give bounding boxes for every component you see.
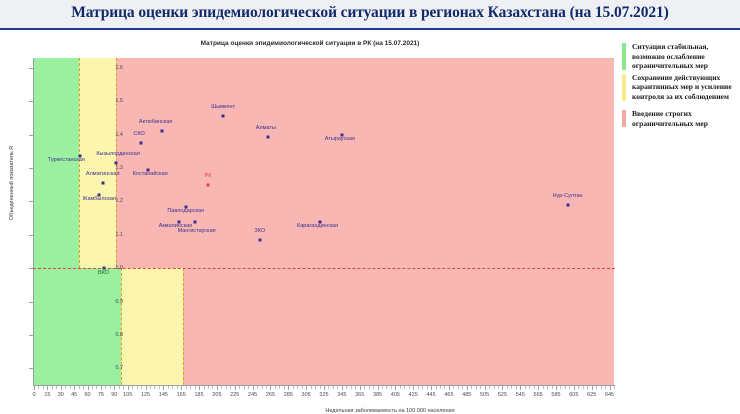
x-axis-tick: [605, 386, 606, 389]
x-axis-tick-label: 245: [248, 392, 257, 398]
data-point[interactable]: [140, 142, 143, 145]
x-axis-tick: [266, 386, 267, 389]
x-axis-tick-label: 205: [212, 392, 221, 398]
data-point[interactable]: [101, 182, 104, 185]
y-axis-tick: [29, 135, 33, 136]
x-axis-tick: [284, 386, 285, 389]
x-axis-tick-label: 625: [587, 392, 596, 398]
x-axis-tick: [315, 386, 316, 389]
x-axis-tick: [150, 386, 151, 389]
x-axis-tick-label: 505: [480, 392, 489, 398]
x-axis-tick: [574, 386, 575, 390]
page-title: Матрица оценки эпидемиологической ситуац…: [0, 4, 740, 22]
legend-label-stable: Ситуация стабильная, возможно ослабление…: [632, 42, 740, 71]
zone-band-red: [183, 268, 614, 385]
x-axis-tick: [235, 386, 236, 390]
x-axis-tick-label: 425: [409, 392, 418, 398]
x-axis-tick: [355, 386, 356, 389]
x-axis-tick: [565, 386, 566, 389]
x-axis-tick: [137, 386, 138, 389]
x-axis-tick: [92, 386, 93, 389]
x-axis-tick: [409, 386, 410, 389]
x-axis-tick: [400, 386, 401, 389]
y-axis-tick: [29, 201, 33, 202]
x-axis-tick: [154, 386, 155, 389]
x-axis-tick: [275, 386, 276, 389]
x-axis-tick: [391, 386, 392, 389]
x-axis-tick: [190, 386, 191, 389]
y-axis-tick: [29, 302, 33, 303]
x-axis-tick: [74, 386, 75, 390]
x-axis-tick-label: 145: [159, 392, 168, 398]
data-point-label: Мангистауская: [178, 228, 216, 234]
x-axis-tick: [96, 386, 97, 389]
x-axis-tick: [61, 386, 62, 390]
x-axis-tick-label: 645: [605, 392, 614, 398]
y-axis-tick: [29, 268, 33, 269]
legend-item: Введение строгих ограничительных мер: [622, 109, 740, 128]
x-axis-tick: [195, 386, 196, 389]
x-axis-tick: [592, 386, 593, 390]
x-axis-tick: [476, 386, 477, 389]
x-axis-tick: [440, 386, 441, 389]
x-axis-tick: [449, 386, 450, 390]
data-point[interactable]: [207, 183, 210, 186]
x-axis-tick-label: 325: [319, 392, 328, 398]
data-point-label: СКО: [133, 131, 144, 137]
x-axis-tick-label: 345: [337, 392, 346, 398]
x-axis-tick: [311, 386, 312, 389]
data-point-label: Кызылординская: [96, 151, 140, 157]
x-axis-tick-label: 45: [71, 392, 77, 398]
x-axis-tick: [342, 386, 343, 390]
x-axis-tick: [556, 386, 557, 390]
x-axis-tick: [226, 386, 227, 389]
x-axis-tick: [364, 386, 365, 389]
data-point-label: Шымкент: [211, 104, 235, 110]
chart-title: Матрица оценки эпидемиологической ситуац…: [0, 40, 620, 47]
zone-band-yellow: [121, 268, 183, 385]
x-axis-tick: [552, 386, 553, 389]
x-axis-tick: [525, 386, 526, 389]
x-axis-tick: [257, 386, 258, 389]
x-axis-tick-label: 90: [111, 392, 117, 398]
x-axis-tick: [596, 386, 597, 389]
y-axis-tick: [29, 68, 33, 69]
x-axis-tick: [578, 386, 579, 389]
x-axis-tick: [502, 386, 503, 390]
x-axis-tick: [560, 386, 561, 389]
x-axis-tick: [485, 386, 486, 390]
x-axis-tick: [511, 386, 512, 389]
x-axis-tick: [114, 386, 115, 390]
x-axis-tick: [306, 386, 307, 390]
x-axis-tick: [253, 386, 254, 390]
x-axis-tick: [382, 386, 383, 389]
x-axis-tick-label: 75: [98, 392, 104, 398]
x-axis-tick: [47, 386, 48, 390]
x-axis-tick: [587, 386, 588, 389]
x-axis-tick: [83, 386, 84, 389]
x-axis-tick: [601, 386, 602, 389]
x-axis-tick: [462, 386, 463, 389]
chart-panel: Матрица оценки эпидемиологической ситуац…: [0, 30, 740, 414]
x-axis-tick-label: 60: [84, 392, 90, 398]
x-axis-tick: [378, 386, 379, 390]
x-axis-tick: [498, 386, 499, 389]
y-axis-tick: [29, 168, 33, 169]
x-axis-tick: [583, 386, 584, 389]
x-axis-tick: [333, 386, 334, 389]
data-point-label: РК: [205, 173, 212, 179]
header-banner: Матрица оценки эпидемиологической ситуац…: [0, 0, 740, 30]
x-axis-tick: [186, 386, 187, 389]
x-axis-tick: [270, 386, 271, 390]
x-axis-tick: [614, 386, 615, 389]
x-axis-tick-label: 565: [534, 392, 543, 398]
x-axis-tick: [516, 386, 517, 389]
x-axis-tick: [262, 386, 263, 389]
x-axis-tick: [217, 386, 218, 390]
legend-label-strict: Введение строгих ограничительных мер: [632, 109, 740, 128]
x-axis-tick: [431, 386, 432, 390]
x-axis-tick: [279, 386, 280, 389]
x-axis-tick: [507, 386, 508, 389]
x-axis-tick: [404, 386, 405, 389]
x-axis-tick-label: 30: [58, 392, 64, 398]
data-point[interactable]: [160, 129, 163, 132]
x-axis-tick-label: 385: [373, 392, 382, 398]
x-axis-tick: [297, 386, 298, 389]
x-axis-tick-label: 185: [194, 392, 203, 398]
x-axis-tick: [177, 386, 178, 389]
x-axis-tick-label: 0: [32, 392, 35, 398]
y-axis-tick-label: 0.7: [115, 365, 123, 371]
x-axis-tick: [168, 386, 169, 389]
legend: Ситуация стабильная, возможно ослабление…: [622, 42, 740, 130]
x-axis-tick: [547, 386, 548, 389]
x-axis-tick: [88, 386, 89, 390]
x-axis-tick: [610, 386, 611, 390]
data-point-label: Атырауская: [325, 136, 355, 142]
x-axis-tick: [159, 386, 160, 389]
x-axis-tick: [351, 386, 352, 389]
x-axis-tick: [413, 386, 414, 390]
y-axis-tick-label: 0.8: [115, 332, 123, 338]
y-axis-label: Объединенный показатель R: [9, 138, 15, 228]
zone-band-red: [116, 58, 614, 268]
x-axis-tick: [543, 386, 544, 389]
zone-divider: [183, 268, 184, 385]
x-axis-tick: [212, 386, 213, 389]
x-axis-tick: [369, 386, 370, 389]
x-axis-tick-label: 105: [123, 392, 132, 398]
x-axis-label: Недельная заболеваемость на 100 000 насе…: [180, 408, 600, 414]
x-axis-tick: [208, 386, 209, 389]
x-axis-tick: [418, 386, 419, 389]
y-axis-tick-label: 1.6: [115, 65, 123, 71]
x-axis-tick: [467, 386, 468, 390]
x-axis-tick: [436, 386, 437, 389]
y-axis-tick: [29, 235, 33, 236]
x-axis-tick: [320, 386, 321, 389]
y-axis-line: [33, 58, 34, 385]
x-axis-tick-label: 365: [355, 392, 364, 398]
x-axis-tick: [101, 386, 102, 390]
x-axis-tick: [128, 386, 129, 390]
x-axis-tick: [43, 386, 44, 389]
x-axis-tick: [569, 386, 570, 389]
data-point-label: Нур-Султан: [553, 193, 583, 199]
x-axis-tick: [302, 386, 303, 389]
y-axis-tick-label: 1.5: [115, 98, 123, 104]
x-axis-tick: [38, 386, 39, 389]
x-axis-tick: [427, 386, 428, 389]
x-axis-tick-label: 405: [391, 392, 400, 398]
x-axis-tick: [181, 386, 182, 390]
x-axis-tick-label: 465: [444, 392, 453, 398]
data-point-label: ВКО: [98, 270, 109, 276]
zone-band-green: [34, 268, 121, 385]
x-axis-tick: [346, 386, 347, 389]
x-axis-tick: [529, 386, 530, 389]
x-axis-tick: [538, 386, 539, 390]
x-axis-tick: [458, 386, 459, 389]
x-axis-tick-label: 285: [284, 392, 293, 398]
x-axis-tick: [489, 386, 490, 389]
x-axis-tick: [494, 386, 495, 389]
data-point-label: Туркестанская: [48, 157, 85, 163]
x-axis-tick: [56, 386, 57, 389]
x-axis-tick: [239, 386, 240, 389]
x-axis-tick: [444, 386, 445, 389]
x-axis-tick: [132, 386, 133, 389]
x-axis-tick: [520, 386, 521, 390]
y-axis-tick: [29, 368, 33, 369]
x-axis-tick: [221, 386, 222, 389]
x-axis-tick-label: 165: [177, 392, 186, 398]
x-axis-tick: [324, 386, 325, 390]
x-axis-tick-label: 15: [44, 392, 50, 398]
x-axis-tick: [471, 386, 472, 389]
x-axis-tick: [360, 386, 361, 390]
data-point[interactable]: [222, 115, 225, 118]
x-axis-tick-label: 605: [569, 392, 578, 398]
data-point-label: Алматы: [256, 125, 276, 131]
data-point-label: Алматинская: [86, 171, 120, 177]
y-axis-tick: [29, 101, 33, 102]
data-point[interactable]: [258, 238, 261, 241]
x-axis-tick: [52, 386, 53, 389]
x-axis-tick-label: 225: [230, 392, 239, 398]
x-axis-tick: [105, 386, 106, 389]
x-axis-tick: [373, 386, 374, 389]
x-axis-tick: [141, 386, 142, 389]
legend-swatch-maintain: [622, 74, 626, 101]
legend-item: Ситуация стабильная, возможно ослабление…: [622, 42, 740, 71]
x-axis-tick: [65, 386, 66, 389]
data-point[interactable]: [266, 136, 269, 139]
x-axis-tick: [34, 386, 35, 390]
x-axis-tick: [422, 386, 423, 389]
x-axis-tick: [244, 386, 245, 389]
x-axis-tick: [534, 386, 535, 389]
data-point-label: Костанайская: [133, 171, 168, 177]
x-axis-tick-label: 485: [462, 392, 471, 398]
x-axis-tick: [248, 386, 249, 389]
x-axis-tick: [204, 386, 205, 389]
x-axis-tick: [123, 386, 124, 389]
x-axis-tick: [110, 386, 111, 389]
y-axis-tick: [29, 335, 33, 336]
legend-item: Сохранение действующих карантинных мер и…: [622, 73, 740, 102]
x-axis-tick-label: 525: [498, 392, 507, 398]
x-axis-tick-label: 585: [551, 392, 560, 398]
data-point[interactable]: [566, 204, 569, 207]
y-axis-tick-label: 0.9: [115, 299, 123, 305]
data-point[interactable]: [193, 220, 196, 223]
data-point-label: ЗКО: [254, 228, 265, 234]
x-axis-tick: [70, 386, 71, 389]
data-point[interactable]: [115, 162, 118, 165]
x-axis-tick: [146, 386, 147, 390]
legend-swatch-strict: [622, 110, 626, 127]
x-axis-tick-label: 445: [426, 392, 435, 398]
x-axis-tick-label: 545: [516, 392, 525, 398]
x-axis-tick-label: 125: [141, 392, 150, 398]
x-axis-tick: [79, 386, 80, 389]
y-axis-tick-label: 1.0: [115, 265, 123, 271]
x-axis-tick: [163, 386, 164, 390]
x-axis-tick: [453, 386, 454, 389]
legend-label-maintain: Сохранение действующих карантинных мер и…: [632, 73, 740, 102]
x-axis-tick: [395, 386, 396, 390]
x-axis-tick: [480, 386, 481, 389]
x-axis-tick-label: 305: [302, 392, 311, 398]
x-axis-tick: [230, 386, 231, 389]
x-axis-tick: [199, 386, 200, 390]
x-axis-tick: [386, 386, 387, 389]
data-point-label: Павлодарская: [167, 208, 204, 214]
y-axis-tick-label: 1.2: [115, 198, 123, 204]
data-point-label: Актюбинская: [139, 119, 172, 125]
x-axis-tick-label: 265: [266, 392, 275, 398]
x-axis-tick: [119, 386, 120, 389]
x-axis-tick: [328, 386, 329, 389]
data-point-label: Карагандинская: [297, 223, 338, 229]
x-axis-tick: [337, 386, 338, 389]
x-axis-tick: [288, 386, 289, 390]
x-axis-tick: [293, 386, 294, 389]
y-axis-tick-label: 1.1: [115, 232, 123, 238]
data-point-label: Жамбылская: [82, 196, 116, 202]
legend-swatch-stable: [622, 43, 626, 70]
x-axis-tick: [172, 386, 173, 389]
y-axis-tick-label: 1.4: [115, 132, 123, 138]
